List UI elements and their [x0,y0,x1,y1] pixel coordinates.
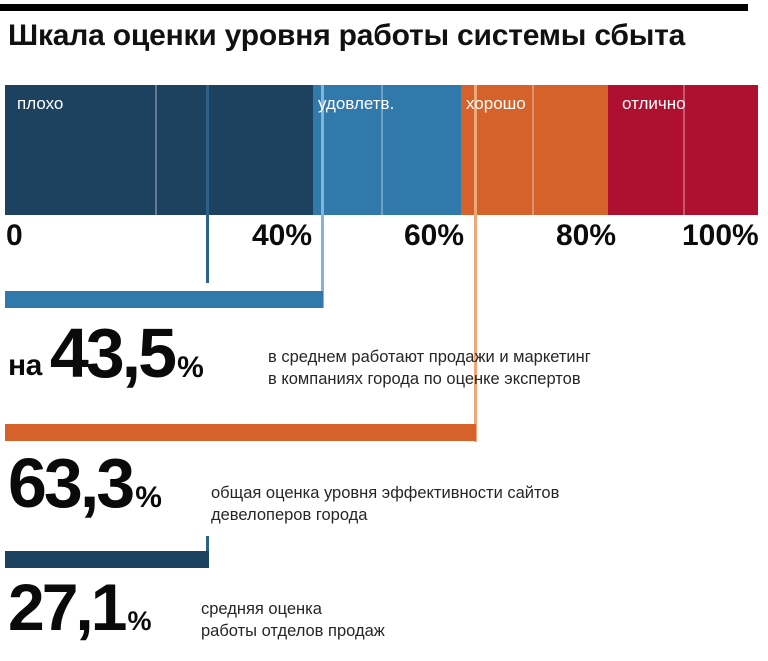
scale-gridline-70 [532,85,534,215]
value-bar-2 [5,424,476,441]
stat-percent-3: % [127,606,151,637]
scale-label-satisfactory: удовлетв. [318,94,394,114]
stat-description-2: общая оценка уровня эффективности сайтов… [211,483,559,527]
stat-description-2-line2: девелоперов города [211,505,559,527]
stat-figure-1: на 43,5 % [8,322,204,385]
scale-label-excellent: отлично [622,94,686,114]
stat-prefix-1: на [8,349,42,383]
stat-number-3: 27,1 [8,578,124,637]
stat-description-3-line1: средняя оценка [201,599,385,621]
stat-percent-1: % [177,351,204,385]
scale-label-good: хорошо [466,94,526,114]
value-bar-1 [5,291,323,308]
stat-figure-3: 27,1 % [8,578,151,637]
stat-figure-2: 63,3 % [8,452,162,515]
scale-gridline-20 [155,85,157,215]
axis-tick-40: 40% [252,219,312,253]
axis-tick-0: 0 [6,219,23,253]
stat-number-2: 63,3 [8,452,132,515]
stat-description-3-line2: работы отделов продаж [201,621,385,643]
axis-tick-60: 60% [404,219,464,253]
stat-description-1-line1: в среднем работают продажи и маркетинг [268,347,591,369]
scale-axis: 0 40% 60% 80% 100% [0,219,768,261]
scale-label-poor: плохо [17,94,63,114]
stat-description-2-line1: общая оценка уровня эффективности сайтов [211,483,559,505]
stat-description-3: средняя оценка работы отделов продаж [201,599,385,643]
connector-line-27 [206,215,209,283]
stat-number-1: 43,5 [50,322,174,385]
stat-description-1-line2: в компаниях города по оценке экспертов [268,369,591,391]
top-divider-rule [0,4,748,11]
axis-tick-100: 100% [682,219,759,253]
stat-description-1: в среднем работают продажи и маркетинг в… [268,347,591,391]
rating-scale-band: плохо удовлетв. хорошо отлично [5,85,758,215]
infographic-root: Шкала оценки уровня работы системы сбыта… [0,0,768,661]
connector-line-63 [474,215,477,442]
axis-tick-80: 80% [556,219,616,253]
scale-marker-27 [206,85,209,215]
value-bar-3 [5,551,209,568]
stat-percent-2: % [135,481,162,515]
page-title: Шкала оценки уровня работы системы сбыта [8,19,760,53]
